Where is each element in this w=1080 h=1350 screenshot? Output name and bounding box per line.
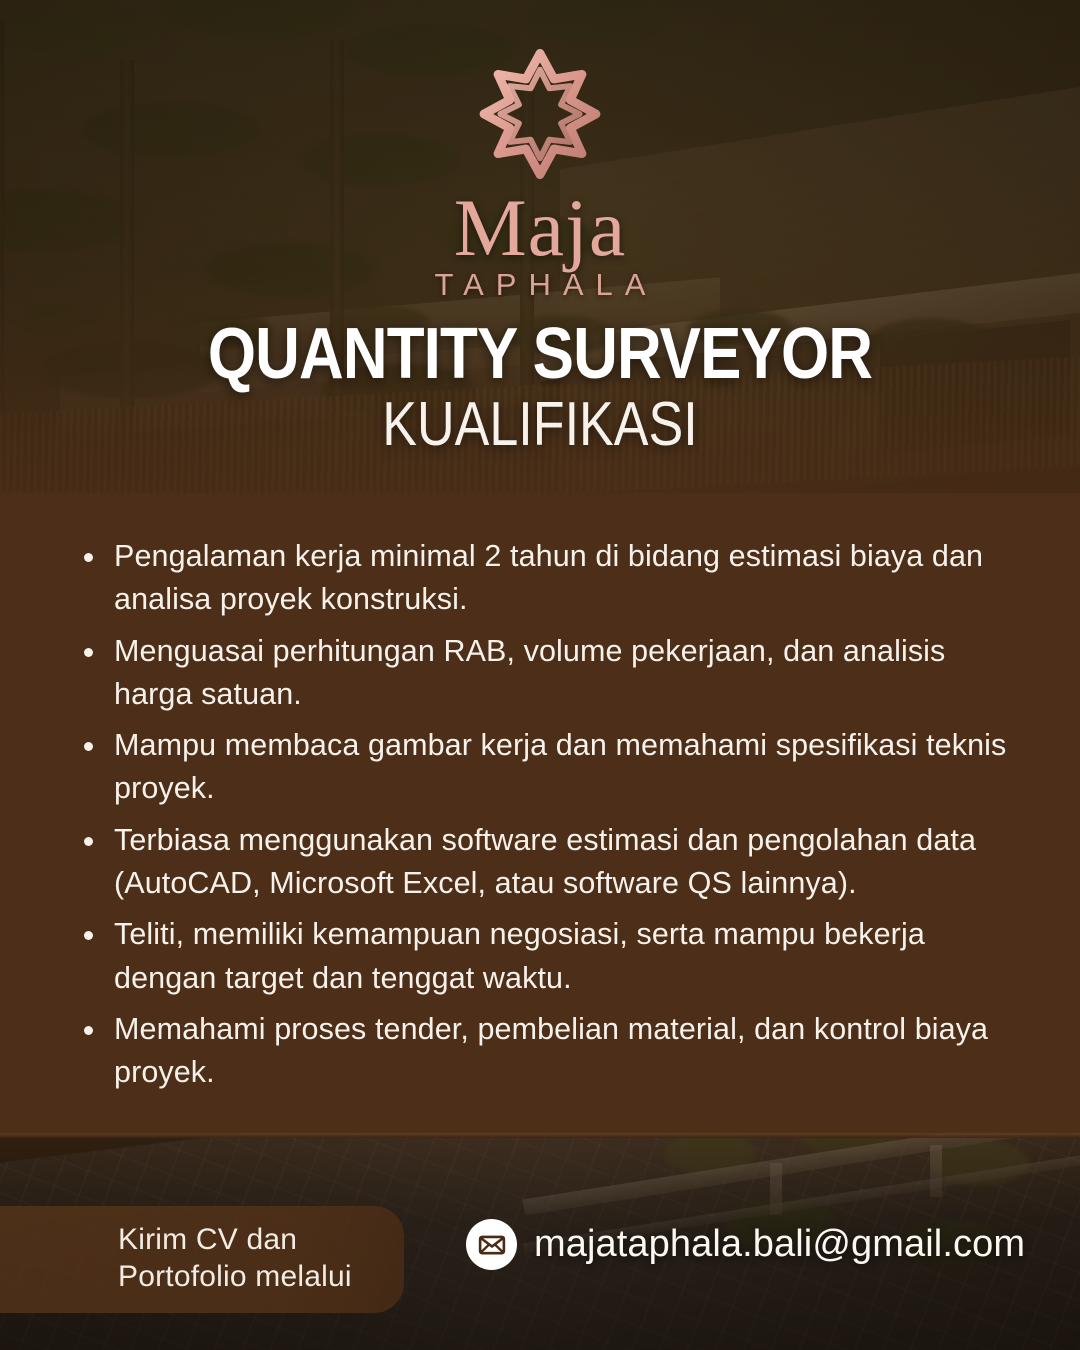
send-cv-label: Kirim CV dan Portofolio melalui <box>0 1206 404 1313</box>
job-vacancy-poster: Maja TAPHALA QUANTITY SURVEYOR KUALIFIKA… <box>0 0 1080 1350</box>
header-photo-villa: Maja TAPHALA QUANTITY SURVEYOR KUALIFIKA… <box>0 0 1080 493</box>
list-item: Pengalaman kerja minimal 2 tahun di bida… <box>78 535 1018 622</box>
envelope-icon <box>466 1219 517 1270</box>
title-block: QUANTITY SURVEYOR KUALIFIKASI <box>0 318 1080 457</box>
qualifications-panel: Pengalaman kerja minimal 2 tahun di bida… <box>0 493 1080 1133</box>
brand-logo: Maja TAPHALA <box>0 44 1080 303</box>
job-title: QUANTITY SURVEYOR <box>76 318 1005 390</box>
qualifications-list: Pengalaman kerja minimal 2 tahun di bida… <box>0 493 1080 1095</box>
email-address[interactable]: majataphala.bali@gmail.com <box>534 1223 1025 1266</box>
section-title: KUALIFIKASI <box>86 392 993 457</box>
list-item: Memahami proses tender, pembelian materi… <box>78 1008 1018 1095</box>
brand-name: Maja <box>454 190 626 265</box>
list-item: Mampu membaca gambar kerja dan memahami … <box>78 724 1018 811</box>
brand-subname: TAPHALA <box>423 267 658 303</box>
list-item: Terbiasa menggunakan software estimasi d… <box>78 819 1018 906</box>
list-item: Teliti, memiliki kemampuan negosiasi, se… <box>78 913 1018 1000</box>
list-item: Menguasai perhitungan RAB, volume pekerj… <box>78 630 1018 717</box>
ribbon-star-icon <box>470 44 610 184</box>
email-contact[interactable]: majataphala.bali@gmail.com <box>466 1219 1025 1270</box>
footer-top-edge <box>0 1133 1080 1138</box>
